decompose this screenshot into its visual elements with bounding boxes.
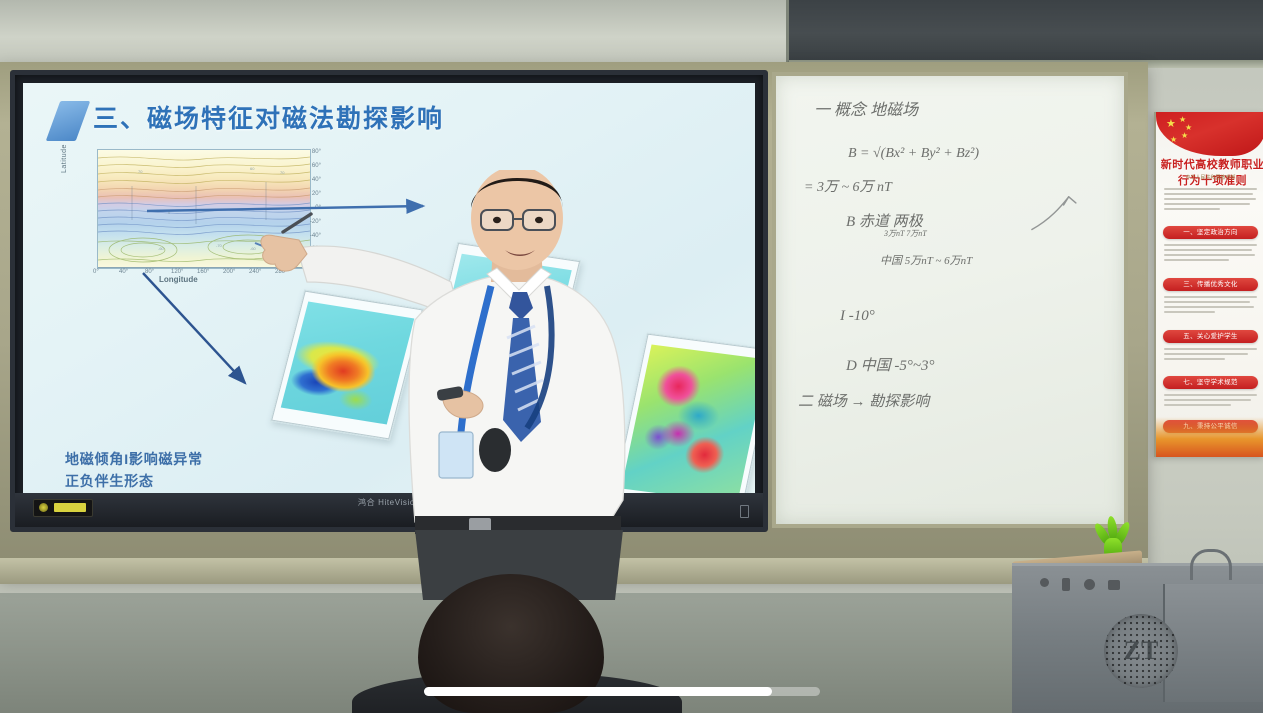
whiteboard[interactable]: 一 概念 地磁场 B = √(Bx² + By² + Bz²) = 3万 ~ 6… xyxy=(772,72,1128,528)
star-icon: ★ xyxy=(1181,132,1188,140)
presenter-id-badge xyxy=(439,432,473,478)
wb-note-line: 中国 5万nT ~ 6万nT xyxy=(880,252,972,268)
star-icon: ★ xyxy=(1166,119,1176,130)
lectern-switch-icon[interactable] xyxy=(1062,578,1070,591)
wb-note-line: = 3万 ~ 6万 nT xyxy=(804,176,892,196)
poster-footer-graphic xyxy=(1156,417,1263,457)
poster-title: 新时代高校教师职业行为十项准则 xyxy=(1160,156,1263,188)
poster-body-4 xyxy=(1164,394,1257,409)
star-icon: ★ xyxy=(1170,136,1177,144)
x-tick: 80° xyxy=(145,269,154,275)
poster-intro-text xyxy=(1164,188,1257,213)
wb-note-line: 3万nT 7万nT xyxy=(884,228,927,239)
poster-section-2: 三、传播优秀文化 xyxy=(1163,278,1258,291)
x-tick: 40° xyxy=(119,269,128,275)
svg-text:70: 70 xyxy=(138,169,143,174)
poster-section-4: 七、坚守学术规范 xyxy=(1163,376,1258,389)
svg-text:0: 0 xyxy=(168,210,171,215)
poster-subtitle: 中华人民共和国教育部 xyxy=(1156,174,1263,181)
poster-body-1 xyxy=(1164,244,1257,264)
lectern-port-icon[interactable] xyxy=(1084,579,1095,590)
whiteboard-ink-strokes xyxy=(776,76,1124,526)
badge-plate xyxy=(54,503,86,512)
wall-upper-strip xyxy=(0,0,790,62)
chart-y-axis-label: Latitude xyxy=(61,144,68,173)
x-tick: 0° xyxy=(93,269,99,275)
slide-title: 三、磁场特征对磁法勘探影响 xyxy=(93,99,444,135)
svg-text:-60: -60 xyxy=(158,246,165,251)
lectern[interactable]: ZT xyxy=(1012,563,1263,713)
bullet-line-2: 正负伴生形态 xyxy=(65,471,203,493)
wb-note-line: 一 概念 地磁场 xyxy=(814,96,918,120)
chart-x-axis-label: Longitude xyxy=(159,275,198,284)
presenter-handheld-device xyxy=(479,428,511,472)
poster-body-3 xyxy=(1164,348,1257,363)
slide-accent-slash xyxy=(46,101,91,141)
wb-note-line: I -10° xyxy=(840,308,875,325)
poster-section-3: 五、关心爱护学生 xyxy=(1163,330,1258,343)
wall-poster: ★ ★ ★ ★ ★ 新时代高校教师职业行为十项准则 中华人民共和国教育部 一、坚… xyxy=(1154,112,1263,457)
power-led-icon xyxy=(39,503,48,512)
presenter-belt-buckle xyxy=(469,518,491,532)
poster-body-2 xyxy=(1164,296,1257,316)
upper-dark-panel xyxy=(786,0,1263,64)
lectern-knob-icon[interactable] xyxy=(1040,578,1049,587)
lectern-speaker-grille: ZT xyxy=(1104,614,1178,688)
presenter-hand xyxy=(261,235,307,271)
wb-note-line: 二 磁场 → 勘探影响 xyxy=(798,390,929,411)
x-tick: 160° xyxy=(197,269,209,275)
slide-bullet-block: 地磁倾角I影响磁异常 正负伴生形态 xyxy=(65,449,203,492)
presenter-figure xyxy=(255,170,675,600)
lectern-side-panel xyxy=(1163,584,1263,702)
poster-section-1: 一、坚定政治方向 xyxy=(1163,226,1258,239)
bullet-line-1: 地磁倾角I影响磁异常 xyxy=(65,449,203,471)
y-tick: 80° xyxy=(295,149,321,155)
x-tick: 200° xyxy=(223,269,235,275)
power-button-icon[interactable] xyxy=(740,505,749,518)
svg-text:-70: -70 xyxy=(216,243,223,248)
video-frame: 三、磁场特征对磁法勘探影响 Latitude xyxy=(0,0,1263,713)
microphone-arm xyxy=(1190,549,1232,580)
video-progress-bar[interactable] xyxy=(424,687,820,696)
lectern-logo: ZT xyxy=(1124,636,1159,666)
panel-control-badge[interactable] xyxy=(33,499,93,517)
lectern-jack-icon[interactable] xyxy=(1108,580,1120,590)
wb-note-line: B = √(Bx² + By² + Bz²) xyxy=(848,146,979,162)
presenter-pointer xyxy=(283,214,311,232)
wb-note-line: D 中国 -5°~3° xyxy=(846,354,934,375)
progress-fill xyxy=(424,687,772,696)
y-tick: 60° xyxy=(295,163,321,169)
